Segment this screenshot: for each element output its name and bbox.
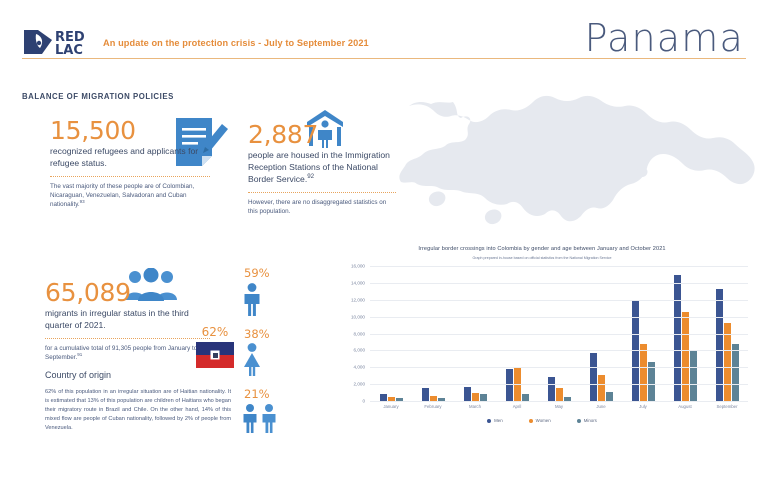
stat-value-refugees: 15,500 — [50, 118, 210, 143]
chart-legend-label: Minors — [584, 418, 597, 423]
demographic-percent-minors: 21% — [244, 389, 316, 401]
chart-y-tick-label: 6,000 — [354, 348, 366, 353]
chart-x-tick-label: July — [622, 404, 664, 409]
country-of-origin-paragraph: 62% of this population in an irregular s… — [45, 388, 231, 433]
flag-percent-value: 62% — [196, 325, 234, 339]
chart-y-tick-label: 0 — [362, 399, 365, 404]
chart-legend-item[interactable]: Minors — [577, 418, 597, 423]
chart-gridline: 0 — [370, 401, 748, 402]
chart-bar-women — [640, 344, 647, 401]
children-icon — [240, 403, 316, 437]
chart-bar-men — [590, 353, 597, 401]
chart-container: Irregular border crossings into Colombia… — [330, 246, 754, 456]
chart-bar-minors — [690, 350, 697, 401]
chart-bar-men — [380, 394, 387, 401]
chart-y-tick-label: 10,000 — [351, 314, 365, 319]
chart-gridline: 2,000 — [370, 384, 748, 385]
chart-x-tick-label: February — [412, 404, 454, 409]
stat-block-stations: 2,887 people are housed in the Immigrati… — [248, 122, 396, 216]
stat-lead-refugees: recognized refugees and applicants for r… — [50, 146, 210, 170]
chart-y-tick-label: 4,000 — [354, 365, 366, 370]
chart-y-tick-label: 14,000 — [351, 280, 365, 285]
flag-crest-emblem — [213, 353, 218, 358]
chart-bar-women — [472, 393, 479, 401]
header-subtitle: An update on the protection crisis - Jul… — [103, 38, 369, 48]
chart-gridline: 6,000 — [370, 350, 748, 351]
stat-note-irregular: for a cumulative total of 91,305 people … — [45, 344, 210, 362]
chart-legend-item[interactable]: Women — [529, 418, 551, 423]
chart-title: Irregular border crossings into Colombia… — [330, 246, 754, 252]
stat-lead-irregular: migrants in irregular status in the thir… — [45, 308, 210, 332]
header-divider — [22, 58, 746, 59]
demographic-minors: 21% — [240, 389, 316, 437]
chart-bar-men — [548, 377, 555, 401]
stat-note-refugees: The vast majority of these people are of… — [50, 182, 210, 209]
chart-legend-item[interactable]: Men — [487, 418, 503, 423]
demographics-column: 59% 38% 21% — [240, 268, 316, 450]
chart-legend: MenWomenMinors — [330, 418, 754, 423]
chart-bar-minors — [480, 394, 487, 401]
chart-x-tick-label: June — [580, 404, 622, 409]
chart-y-tick-label: 8,000 — [354, 331, 366, 336]
chart-x-tick-label: April — [496, 404, 538, 409]
chart-subtitle: Graph prepared in-house based on officia… — [330, 256, 754, 260]
chart-x-tick-label: March — [454, 404, 496, 409]
chart-gridline: 12,000 — [370, 300, 748, 301]
stat-block-irregular: 65,089 migrants in irregular status in t… — [45, 280, 210, 362]
chart-x-tick-label: May — [538, 404, 580, 409]
chart-y-tick-label: 2,000 — [354, 382, 366, 387]
stat-lead-stations: people are housed in the Immigration Rec… — [248, 150, 396, 186]
chart-bar-minors — [606, 392, 613, 401]
redlac-logo: RED LAC — [22, 26, 98, 58]
chart-plot-area: 02,0004,0006,0008,00010,00012,00014,0001… — [370, 266, 748, 402]
footnote-ref: 92 — [307, 173, 314, 180]
chart-bar-women — [556, 388, 563, 401]
stat-note-stations: However, there are no disaggregated stat… — [248, 198, 396, 216]
chart-legend-label: Women — [536, 418, 551, 423]
stat-block-refugees: 15,500 recognized refugees and applicant… — [50, 118, 210, 209]
chart-gridline: 16,000 — [370, 266, 748, 267]
flag-crest — [211, 351, 220, 360]
chart-x-tick-label: September — [706, 404, 748, 409]
man-icon — [240, 282, 316, 316]
panama-map — [395, 88, 761, 243]
divider-dotted — [248, 192, 396, 193]
chart-bar-minors — [522, 394, 529, 401]
stat-note-text: The vast majority of these people are of… — [50, 183, 194, 208]
chart-legend-swatch — [487, 419, 491, 423]
demographic-percent-men: 59% — [244, 268, 316, 280]
haiti-flag — [196, 342, 234, 368]
demographic-men: 59% — [240, 268, 316, 316]
haiti-flag-block: 62% — [196, 325, 234, 368]
woman-icon — [240, 342, 316, 376]
chart-x-tick-label: January — [370, 404, 412, 409]
divider-dotted — [45, 338, 210, 339]
footnote-ref: 93 — [80, 199, 85, 204]
chart-x-axis-labels: JanuaryFebruaryMarchAprilMayJuneJulyAugu… — [370, 404, 748, 409]
demographic-women: 38% — [240, 329, 316, 377]
chart-bar-men — [674, 275, 681, 401]
chart-bar-women — [598, 375, 605, 401]
stat-lead-text: people are housed in the Immigration Rec… — [248, 150, 390, 184]
footnote-ref: 91 — [77, 352, 82, 357]
chart-bar-men — [422, 388, 429, 401]
chart-y-tick-label: 12,000 — [351, 297, 365, 302]
chart-bar-men — [464, 387, 471, 401]
chart-y-tick-label: 16,000 — [351, 264, 365, 269]
chart-legend-label: Men — [494, 418, 503, 423]
chart-gridline: 14,000 — [370, 283, 748, 284]
demographic-percent-women: 38% — [244, 329, 316, 341]
chart-gridline: 10,000 — [370, 317, 748, 318]
country-of-origin-heading: Country of origin — [45, 370, 111, 380]
chart-bar-women — [682, 312, 689, 401]
stat-value-irregular: 65,089 — [45, 280, 210, 305]
stat-note-text: for a cumulative total of 91,305 people … — [45, 345, 197, 361]
infographic-page: RED LAC An update on the protection cris… — [0, 0, 768, 478]
chart-gridline: 4,000 — [370, 367, 748, 368]
page-title: Panama — [585, 16, 744, 60]
chart-legend-swatch — [577, 419, 581, 423]
section-title: BALANCE OF MIGRATION POLICIES — [22, 92, 174, 101]
chart-x-tick-label: August — [664, 404, 706, 409]
chart-gridline: 8,000 — [370, 334, 748, 335]
stat-value-stations: 2,887 — [248, 122, 396, 147]
chart-bar-minors — [732, 344, 739, 401]
svg-text:LAC: LAC — [55, 43, 83, 58]
divider-dotted — [50, 176, 210, 177]
chart-legend-swatch — [529, 419, 533, 423]
